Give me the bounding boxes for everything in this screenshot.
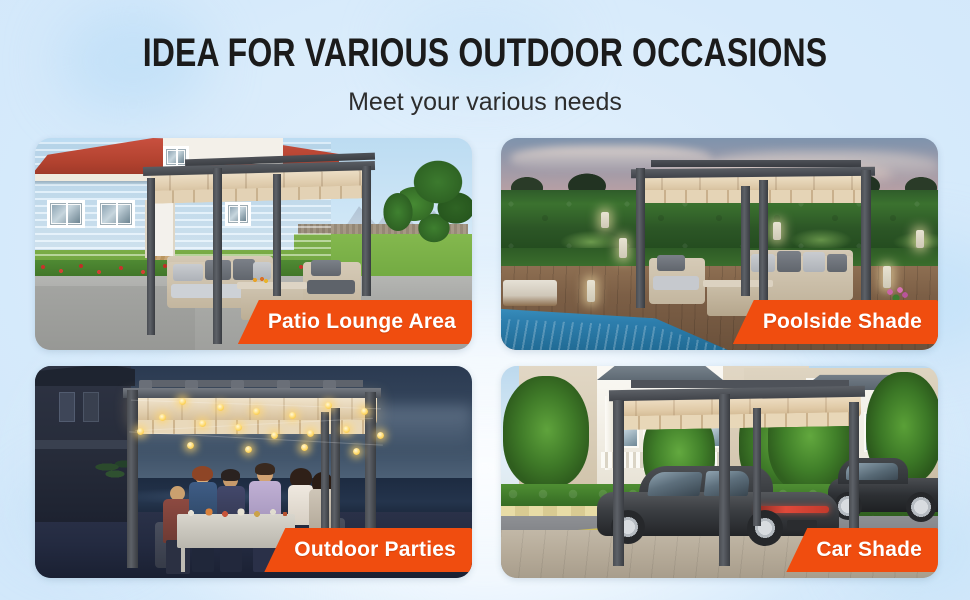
occasion-card-car-shade[interactable]: Car Shade [501,366,938,578]
throw-pillow-4 [827,254,847,272]
occasion-card-outdoor-parties[interactable]: Outdoor Parties [35,366,472,578]
bollard-light-3 [773,222,781,240]
bollard-light-2 [619,238,627,258]
throw-pillow-1 [173,264,203,281]
badge-label: Poolside Shade [763,310,922,334]
header: IDEA FOR VARIOUS OUTDOOR OCCASIONS Meet … [0,0,970,116]
pergola-post-3 [759,180,768,312]
bollard-light-4 [916,230,924,248]
pergola-post-3 [273,174,281,296]
occasions-grid: Patio Lounge Area [35,138,938,578]
pergola-post-4 [861,170,871,318]
pergola-post-1 [636,168,645,308]
pergola-post-1 [613,400,624,566]
house-window-1 [47,200,85,228]
potted-flowers [884,286,910,302]
pergola-post-2 [719,394,730,566]
pergola-post-3 [849,402,859,538]
pergola-post-2 [741,186,750,296]
card-badge-car-shade: Car Shade [786,528,938,572]
house-window-2 [97,200,135,228]
throw-pillow-2 [777,251,801,272]
page-subtitle: Meet your various needs [0,88,970,116]
armchair-seat [307,280,355,294]
bollard-light-6 [883,266,891,288]
string-lights [125,390,387,452]
pergola-post-2 [213,168,222,344]
parked-car [597,466,839,542]
second-car [828,458,938,520]
badge-label: Patio Lounge Area [268,310,456,334]
house-ledge [35,440,131,449]
throw-pillow-3 [803,252,825,272]
card-badge-poolside-shade: Poolside Shade [733,300,938,344]
tree-background [378,186,418,256]
card-badge-patio-lounge-area: Patio Lounge Area [238,300,472,344]
bollard-light-1 [601,212,609,228]
armchair-pillow [657,255,685,271]
food-platters [181,506,293,518]
armchair-seat [653,276,699,290]
pergola-post-1 [147,178,155,335]
occasion-card-poolside-shade[interactable]: Poolside Shade [501,138,938,350]
page-title: IDEA FOR VARIOUS OUTDOOR OCCASIONS [97,32,873,74]
occasion-card-patio-lounge-area[interactable]: Patio Lounge Area [35,138,472,350]
coffee-table-top [237,282,307,289]
pergola-rear-beam [651,160,861,167]
pergola-post-4 [362,166,371,296]
pergola-post-4 [753,408,761,526]
house-window-2 [83,392,99,422]
street-tree-1 [503,376,589,488]
house-window-4 [225,202,251,226]
bollard-light-5 [587,280,595,302]
canopy-scallops [645,190,863,203]
house-window-1 [59,392,75,422]
badge-label: Car Shade [816,538,922,562]
sun-lounger [503,280,557,306]
mansard-roof [597,366,723,380]
armchair-pillow [311,260,341,276]
fruit-bowl [251,275,269,284]
card-badge-outdoor-parties: Outdoor Parties [264,528,472,572]
dining-table [177,514,295,548]
badge-label: Outdoor Parties [294,538,456,562]
